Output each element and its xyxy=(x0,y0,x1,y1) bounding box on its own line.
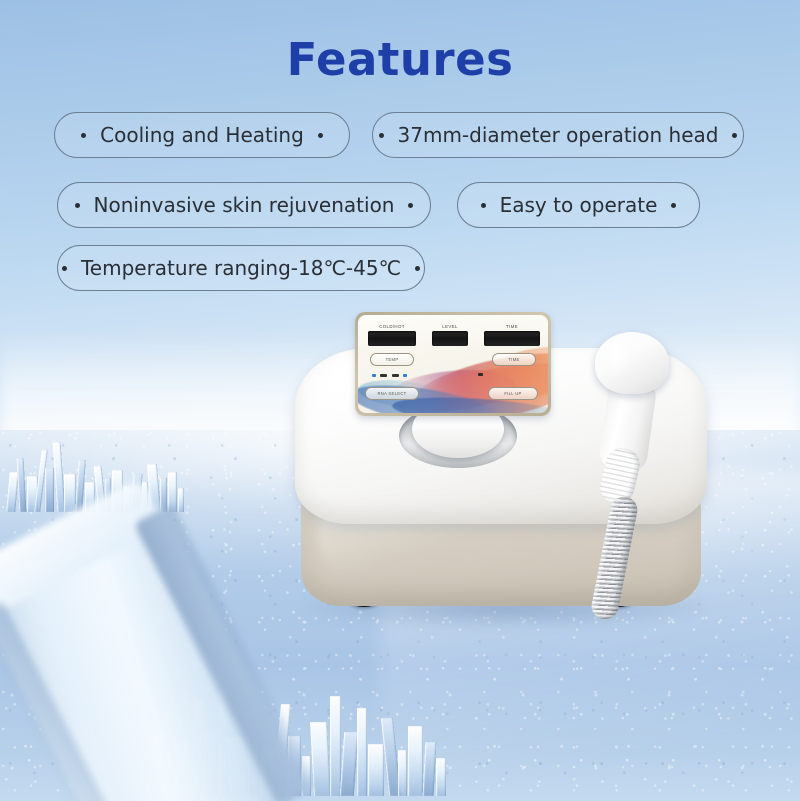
bullet-dot-icon xyxy=(318,133,323,138)
feature-pill-easy-to-operate[interactable]: Easy to operate xyxy=(457,182,700,228)
bullet-dot-icon xyxy=(75,203,80,208)
bullet-dot-icon xyxy=(732,133,737,138)
button-fill-up[interactable]: FILL UP xyxy=(488,387,538,400)
feature-pill-cooling-and-heating[interactable]: Cooling and Heating xyxy=(54,112,350,158)
display-label-cold-hot: COLD/HOT xyxy=(368,324,416,329)
display-level xyxy=(432,331,468,346)
feature-pill-operation-head[interactable]: 37mm-diameter operation head xyxy=(372,112,744,158)
bullet-dot-icon xyxy=(408,203,413,208)
display-time xyxy=(484,331,540,346)
bullet-dot-icon xyxy=(415,266,420,271)
page-title: Features xyxy=(0,33,800,86)
bullet-dot-icon xyxy=(81,133,86,138)
product-device: COLD/HOT LEVEL TIME TEMP TIME RNA SELECT… xyxy=(295,308,725,638)
feature-pill-skin-rejuvenation[interactable]: Noninvasive skin rejuvenation xyxy=(57,182,431,228)
display-label-time: TIME xyxy=(484,324,540,329)
bullet-dot-icon xyxy=(379,133,384,138)
feature-pill-temperature-range[interactable]: Temperature ranging-18℃-45℃ xyxy=(57,245,425,291)
bullet-dot-icon xyxy=(671,203,676,208)
indicator-led-4 xyxy=(403,374,407,377)
feature-label: Easy to operate xyxy=(500,195,658,215)
button-time[interactable]: TIME xyxy=(492,353,536,366)
display-cold-hot xyxy=(368,331,416,346)
handpiece-highlight xyxy=(607,340,633,380)
button-rf-select[interactable]: RNA SELECT xyxy=(365,387,419,400)
feature-label: Cooling and Heating xyxy=(100,125,304,145)
bullet-dot-icon xyxy=(62,266,67,271)
feature-label: 37mm-diameter operation head xyxy=(398,125,719,145)
feature-label: Temperature ranging-18℃-45℃ xyxy=(81,258,401,278)
indicator-led-5 xyxy=(478,373,483,376)
bullet-dot-icon xyxy=(481,203,486,208)
product-feature-banner: Features Cooling and Heating 37mm-diamet… xyxy=(0,0,800,801)
indicator-led-2 xyxy=(380,374,387,377)
button-temp[interactable]: TEMP xyxy=(370,353,414,366)
feature-label: Noninvasive skin rejuvenation xyxy=(94,195,395,215)
control-panel: COLD/HOT LEVEL TIME TEMP TIME RNA SELECT… xyxy=(355,312,551,416)
display-label-level: LEVEL xyxy=(432,324,468,329)
indicator-led-3 xyxy=(392,374,399,377)
indicator-led-1 xyxy=(372,374,376,377)
